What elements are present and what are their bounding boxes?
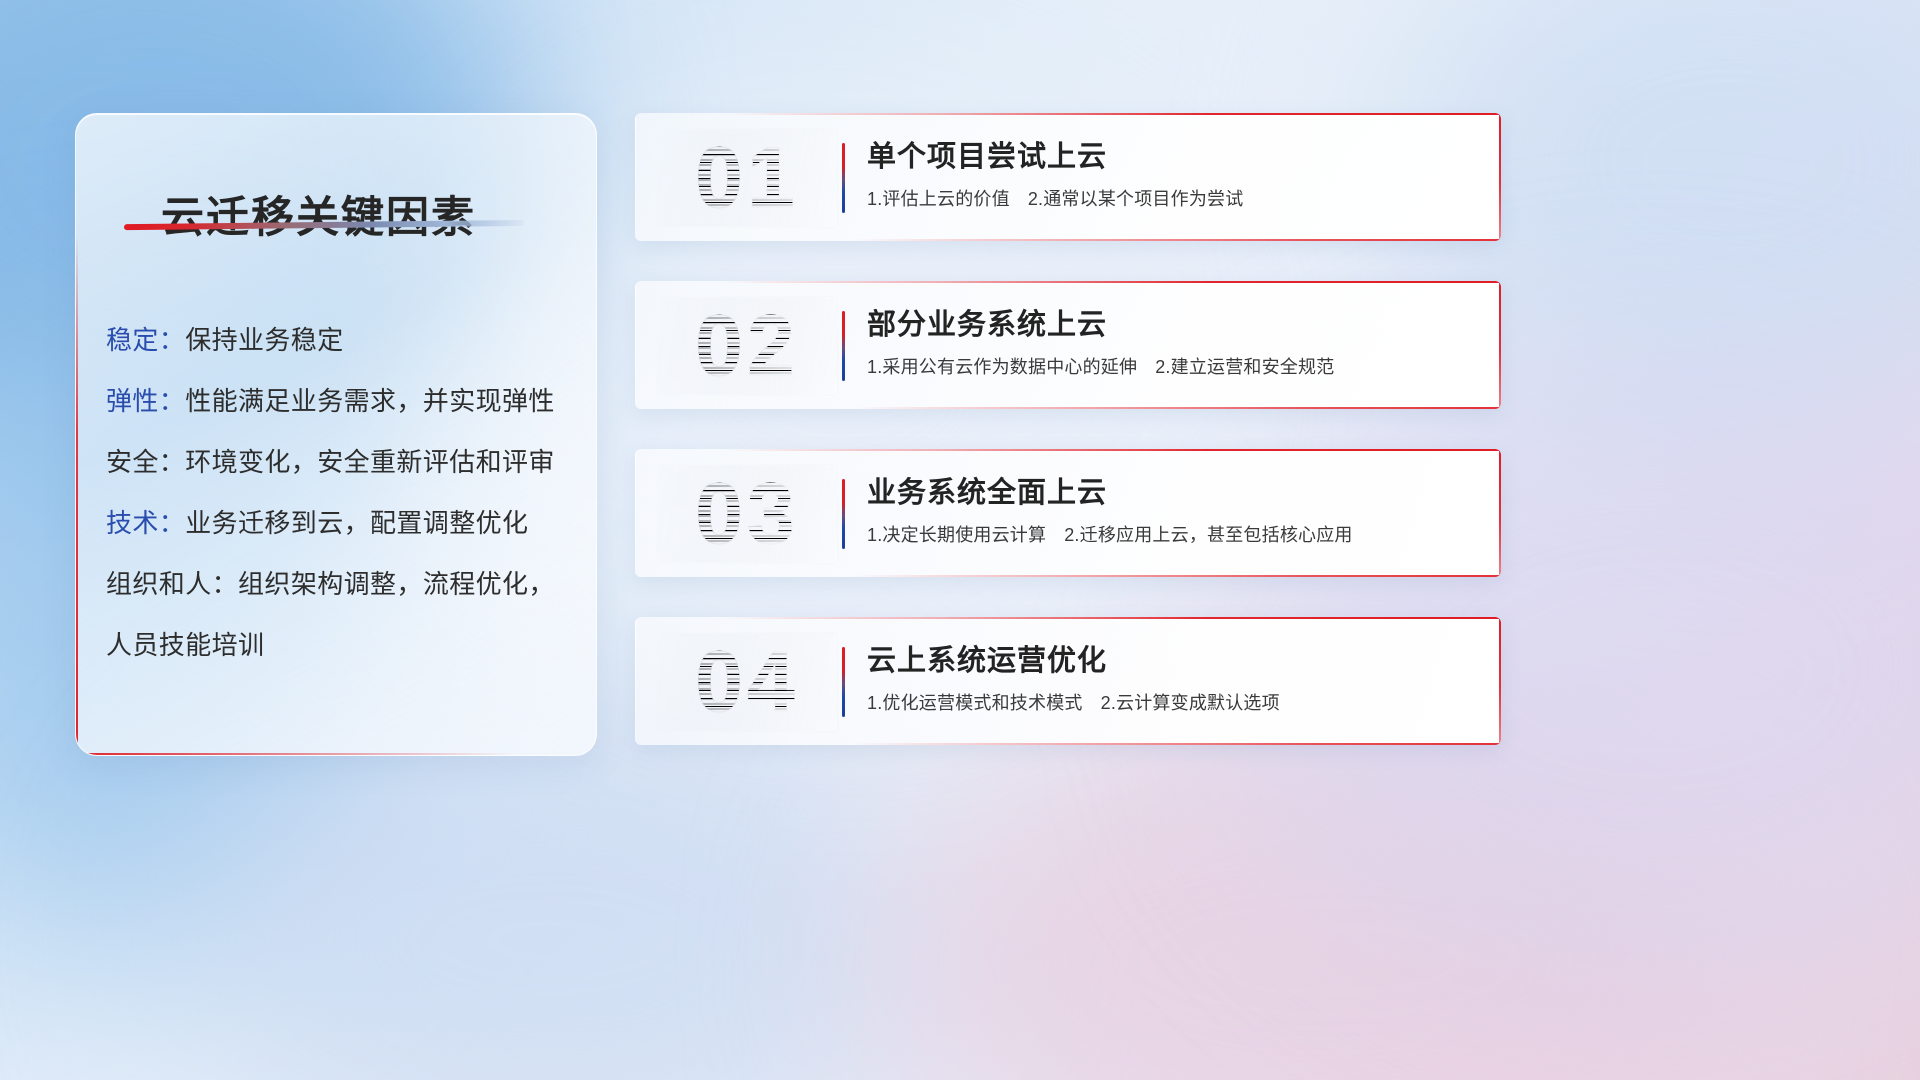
- stage-card-04[interactable]: 04 04 云上系统运营优化 1.优化运营模式和技术模式2.云计算变成默认选项: [635, 617, 1501, 745]
- stage-card-list: 01 01 单个项目尝试上云 1.评估上云的价值2.通常以某个项目作为尝试 02…: [635, 113, 1501, 785]
- stage-number-ghost-tint: 01: [657, 129, 837, 227]
- card-text-block: 云上系统运营优化 1.优化运营模式和技术模式2.云计算变成默认选项: [867, 641, 1477, 716]
- stage-number-ghost-tint: 03: [657, 465, 837, 563]
- card-top-red-accent: [725, 113, 1501, 115]
- card-point-2: 2.迁移应用上云，甚至包括核心应用: [1064, 525, 1352, 545]
- factor-text: 保持业务稳定: [185, 325, 343, 355]
- card-point-2: 2.建立运营和安全规范: [1155, 357, 1334, 377]
- card-right-red-accent: [1499, 281, 1501, 409]
- card-title: 部分业务系统上云: [867, 305, 1477, 345]
- card-top-red-accent: [725, 281, 1501, 283]
- card-divider-bar: [842, 647, 845, 717]
- card-right-red-accent: [1499, 113, 1501, 241]
- card-title: 云上系统运营优化: [867, 641, 1477, 681]
- panel-bottom-red-accent: [76, 753, 516, 755]
- card-bottom-red-accent: [855, 239, 1501, 241]
- card-left-highlight: [635, 451, 636, 577]
- card-point-1: 1.决定长期使用云计算: [867, 525, 1046, 545]
- factor-label: 稳定：: [106, 325, 185, 355]
- factor-text: 业务迁移到云，配置调整优化: [185, 508, 528, 538]
- card-point-1: 1.评估上云的价值: [867, 189, 1010, 209]
- card-top-red-accent: [725, 617, 1501, 619]
- card-divider-bar: [842, 311, 845, 381]
- card-bottom-red-accent: [855, 743, 1501, 745]
- factor-label: 组织和人：: [106, 569, 238, 599]
- card-text-block: 部分业务系统上云 1.采用公有云作为数据中心的延伸2.建立运营和安全规范: [867, 305, 1477, 380]
- factor-text: 性能满足业务需求，并实现弹性: [185, 386, 555, 416]
- stage-card-02[interactable]: 02 02 部分业务系统上云 1.采用公有云作为数据中心的延伸2.建立运营和安全…: [635, 281, 1501, 409]
- card-point-1: 1.优化运营模式和技术模式: [867, 693, 1083, 713]
- factor-item-technology: 技术：业务迁移到云，配置调整优化: [106, 493, 578, 554]
- card-right-red-accent: [1499, 617, 1501, 745]
- page-title: 云迁移关键因素: [161, 183, 476, 245]
- card-bottom-red-accent: [855, 575, 1501, 577]
- card-title: 单个项目尝试上云: [867, 137, 1477, 177]
- factor-list: 稳定：保持业务稳定 弹性：性能满足业务需求，并实现弹性 安全：环境变化，安全重新…: [106, 310, 578, 676]
- card-left-highlight: [635, 115, 636, 241]
- factor-label: 弹性：: [106, 386, 185, 416]
- factor-text-continuation: 人员技能培训: [106, 615, 578, 676]
- key-factors-panel: 云迁移关键因素 稳定：保持业务稳定 弹性：性能满足业务需求，并实现弹性 安全：环…: [75, 113, 597, 756]
- card-text-block: 单个项目尝试上云 1.评估上云的价值2.通常以某个项目作为尝试: [867, 137, 1477, 212]
- card-point-2: 2.云计算变成默认选项: [1101, 693, 1280, 713]
- card-left-highlight: [635, 283, 636, 409]
- factor-text: 环境变化，安全重新评估和评审: [185, 447, 555, 477]
- card-right-red-accent: [1499, 449, 1501, 577]
- factor-item-security: 安全：环境变化，安全重新评估和评审: [106, 432, 578, 493]
- card-divider-bar: [842, 143, 845, 213]
- card-point-2: 2.通常以某个项目作为尝试: [1028, 189, 1244, 209]
- stage-number-ghost-tint: 04: [657, 633, 837, 731]
- card-description: 1.采用公有云作为数据中心的延伸2.建立运营和安全规范: [867, 354, 1477, 380]
- panel-left-red-accent: [76, 234, 78, 756]
- card-point-1: 1.采用公有云作为数据中心的延伸: [867, 357, 1137, 377]
- stage-card-01[interactable]: 01 01 单个项目尝试上云 1.评估上云的价值2.通常以某个项目作为尝试: [635, 113, 1501, 241]
- stage-card-03[interactable]: 03 03 业务系统全面上云 1.决定长期使用云计算2.迁移应用上云，甚至包括核…: [635, 449, 1501, 577]
- slide-stage: 云迁移关键因素 稳定：保持业务稳定 弹性：性能满足业务需求，并实现弹性 安全：环…: [0, 0, 1920, 1080]
- factor-text: 组织架构调整，流程优化，: [238, 569, 555, 599]
- card-text-block: 业务系统全面上云 1.决定长期使用云计算2.迁移应用上云，甚至包括核心应用: [867, 473, 1477, 548]
- stage-number-ghost-tint: 02: [657, 297, 837, 395]
- card-description: 1.评估上云的价值2.通常以某个项目作为尝试: [867, 186, 1477, 212]
- card-divider-bar: [842, 479, 845, 549]
- factor-label: 技术：: [106, 508, 185, 538]
- card-description: 1.优化运营模式和技术模式2.云计算变成默认选项: [867, 690, 1477, 716]
- card-bottom-red-accent: [855, 407, 1501, 409]
- factor-label: 安全：: [106, 447, 185, 477]
- factor-item-elasticity: 弹性：性能满足业务需求，并实现弹性: [106, 371, 578, 432]
- factor-item-stability: 稳定：保持业务稳定: [106, 310, 578, 371]
- card-left-highlight: [635, 619, 636, 745]
- factor-item-organization: 组织和人：组织架构调整，流程优化， 人员技能培训: [106, 554, 578, 676]
- card-title: 业务系统全面上云: [867, 473, 1477, 513]
- card-description: 1.决定长期使用云计算2.迁移应用上云，甚至包括核心应用: [867, 522, 1477, 548]
- card-top-red-accent: [725, 449, 1501, 451]
